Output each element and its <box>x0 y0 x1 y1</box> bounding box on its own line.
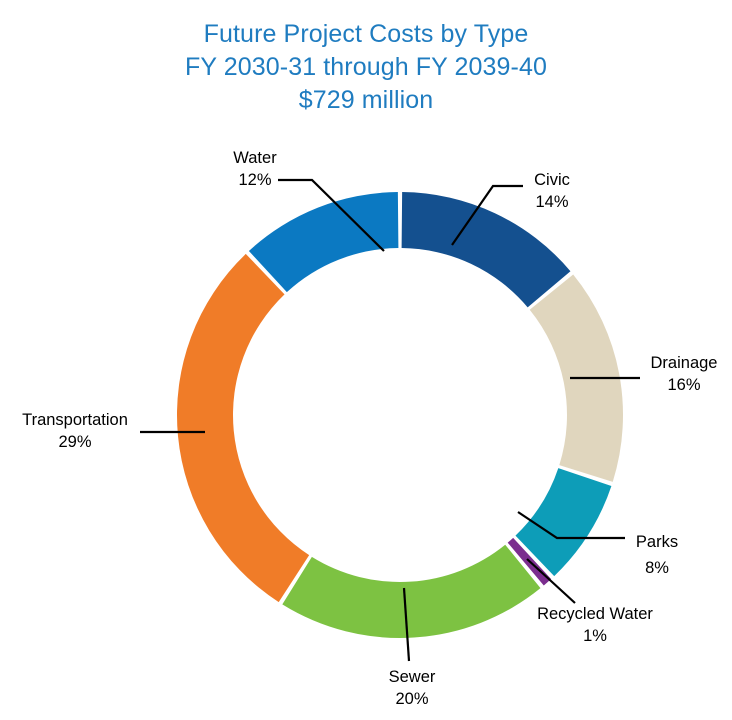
slice-label-parks-percent: 8% <box>645 559 669 577</box>
slice-label-recycled-water-name: Recycled Water <box>537 605 653 623</box>
slice-label-drainage-name: Drainage <box>651 354 718 372</box>
slice-label-transportation-name: Transportation <box>22 411 128 429</box>
slice-label-sewer-name: Sewer <box>389 668 436 686</box>
slice-label-civic-percent: 14% <box>535 193 568 211</box>
slice-label-drainage-percent: 16% <box>667 376 700 394</box>
slice-label-civic-name: Civic <box>534 171 570 189</box>
slice-label-water-percent: 12% <box>238 171 271 189</box>
donut-slice-sewer[interactable] <box>282 545 540 638</box>
donut-slices-group <box>177 192 623 638</box>
donut-chart-figure: Future Project Costs by Type FY 2030-31 … <box>0 0 732 720</box>
donut-chart-svg: Water 12% Civic 14% Drainage 16% Parks 8… <box>0 0 732 720</box>
slice-label-sewer-percent: 20% <box>395 690 428 708</box>
slice-label-parks-name: Parks <box>636 533 678 551</box>
donut-slice-transportation[interactable] <box>177 254 309 602</box>
slice-label-transportation-percent: 29% <box>58 433 91 451</box>
slice-label-water-name: Water <box>233 149 277 167</box>
slice-label-recycled-water-percent: 1% <box>583 627 607 645</box>
